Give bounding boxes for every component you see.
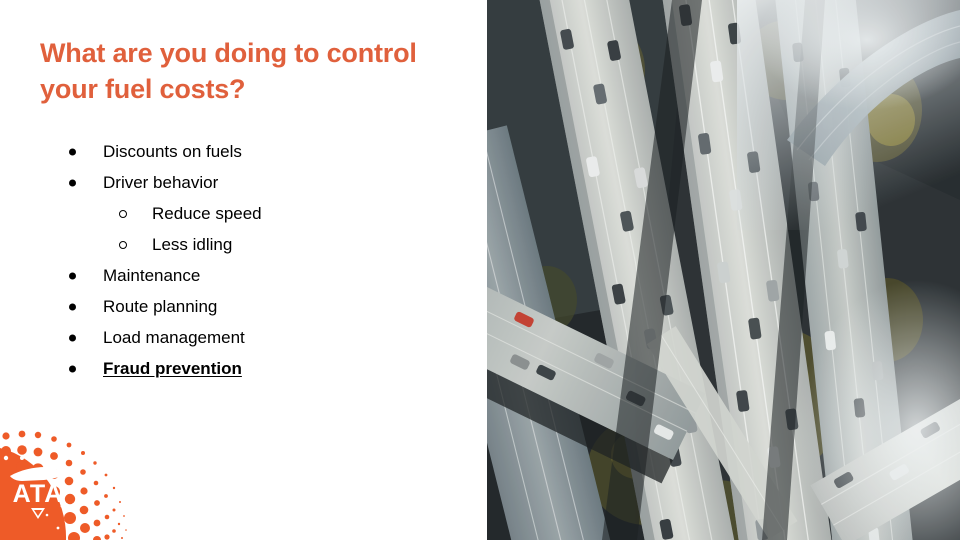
aerial-highway-interchange-photo: [487, 0, 960, 540]
list-item: Route planning: [0, 291, 460, 322]
list-item: Less idling: [0, 229, 460, 260]
list-item-label: Discounts on fuels: [103, 142, 242, 161]
list-item-label: Route planning: [103, 297, 217, 316]
content-column: What are you doing to control your fuel …: [0, 0, 487, 540]
list-item-label: Load management: [103, 328, 245, 347]
list-item: Load management: [0, 322, 460, 353]
list-item: Driver behavior: [0, 167, 460, 198]
page-title: What are you doing to control your fuel …: [40, 36, 465, 107]
filled-disc-icon: [69, 148, 76, 155]
filled-disc-icon: [69, 334, 76, 341]
list-item: Reduce speed: [0, 198, 460, 229]
hollow-circle-icon: [119, 210, 127, 218]
bullet-list: Discounts on fuels Driver behavior Reduc…: [0, 136, 460, 384]
list-item-label: Reduce speed: [152, 204, 262, 223]
filled-disc-icon: [69, 365, 76, 372]
ata-logo: ATA: [0, 420, 140, 540]
list-item: Fraud prevention: [0, 353, 460, 384]
slide: What are you doing to control your fuel …: [0, 0, 960, 540]
filled-disc-icon: [69, 272, 76, 279]
hollow-circle-icon: [119, 241, 127, 249]
list-item-label: Maintenance: [103, 266, 200, 285]
logo-wordmark: ATA: [13, 480, 64, 508]
list-item-label-emphasized: Fraud prevention: [103, 359, 242, 378]
filled-disc-icon: [69, 303, 76, 310]
list-item-label: Less idling: [152, 235, 232, 254]
filled-disc-icon: [69, 179, 76, 186]
list-item: Discounts on fuels: [0, 136, 460, 167]
list-item-label: Driver behavior: [103, 173, 218, 192]
list-item: Maintenance: [0, 260, 460, 291]
